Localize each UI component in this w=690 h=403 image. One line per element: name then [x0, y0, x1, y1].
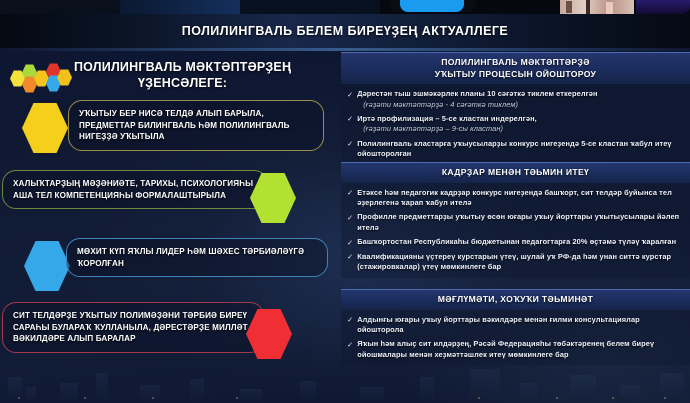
bullet-main: Иртә профилизация – 5-се кластан индерел…	[357, 114, 537, 123]
bullet-item: ✓ Етәксе һәм педагогик кадрҙар конкурс н…	[347, 188, 682, 209]
bullet-item: ✓ Иртә профилизация – 5-се кластан индер…	[347, 114, 682, 135]
bullet-text: Башҡортостан Республикаһы бюджетынан пед…	[357, 237, 676, 248]
feature-card-text: МӨХИТ КҮП ЯҠЛЫ ЛИДЕР ҺӘМ ШӘХЕС ТӘРБИӘЛӘҮ…	[66, 238, 328, 277]
hexagon-icon-yellow	[22, 102, 68, 154]
video-call-strip	[0, 0, 690, 14]
bullet-sub: (ғәҙәти мәктәптәрҙә - 4 сәғәткә тиклем)	[357, 100, 597, 110]
check-icon: ✓	[347, 89, 353, 110]
page-title: ПОЛИЛИНГВАЛЬ БЕЛЕМ БИРЕҮҘЕҢ АКТУАЛЛЕГЕ	[182, 24, 508, 38]
check-icon: ✓	[347, 339, 353, 360]
feature-card[interactable]: СИТ ТЕЛДӘРҘЕ УҠЫТЫУ ПОЛИМӘҘӘНИ ТӘРБИӘ БИ…	[2, 302, 320, 353]
title-underline	[0, 48, 690, 51]
feature-card-text: ХАЛЫҠТАРҘЫҢ МӘҘӘНИӘТЕ, ТАРИХЫ, ПСИХОЛОГИ…	[2, 170, 268, 209]
check-icon: ✓	[347, 139, 353, 160]
feature-card[interactable]: УҠЫТЫУ БЕР НИСӘ ТЕЛДӘ АЛЫП БАРЫЛА, ПРЕДМ…	[22, 100, 330, 151]
bullet-item: ✓ Башҡортостан Республикаһы бюджетынан п…	[347, 237, 682, 248]
hexagon-cluster-logo	[10, 63, 68, 93]
slide-stage: ПОЛИЛИНГВАЛЬ БЕЛЕМ БИРЕҮҘЕҢ АКТУАЛЛЕГЕ П…	[0, 0, 690, 403]
info-panel-header: КАДРҘАР МЕНӘН ТӘЬМИН ИТЕҮ	[341, 162, 690, 183]
right-column: ПОЛИЛИНГВАЛЬ МӘКТӘПТӘРҘӘ УҠЫТЫУ ПРОЦЕСЫН…	[341, 52, 690, 403]
bullet-item: ✓ Дәрестән тыш эшмәкәрлек планы 10 сәғәт…	[347, 89, 682, 110]
feature-card[interactable]: ХАЛЫҠТАРҘЫҢ МӘҘӘНИӘТЕ, ТАРИХЫ, ПСИХОЛОГИ…	[2, 170, 316, 209]
call-control-button[interactable]	[400, 0, 464, 12]
feature-card-text: УҠЫТЫУ БЕР НИСӘ ТЕЛДӘ АЛЫП БАРЫЛА, ПРЕДМ…	[68, 100, 324, 151]
check-icon: ✓	[347, 252, 353, 273]
bullet-text: Квалификацияны үҫтереү курстарын үтеү, ш…	[357, 252, 682, 273]
bullet-text: Иртә профилизация – 5-се кластан индерел…	[357, 114, 537, 135]
left-column: ПОЛИЛИНГВАЛЬ МӘКТӘПТӘРҘЕҢ ҮҘЕНСӘЛЕГЕ: УҠ…	[0, 52, 336, 402]
left-heading: ПОЛИЛИНГВАЛЬ МӘКТӘПТӘРҘЕҢ ҮҘЕНСӘЛЕГЕ:	[0, 52, 336, 93]
info-panel: КАДРҘАР МЕНӘН ТӘЬМИН ИТЕҮ ✓ Етәксе һәм п…	[341, 162, 690, 278]
hexagon-icon-blue	[24, 240, 70, 292]
info-panel-title-line1: ПОЛИЛИНГВАЛЬ МӘКТӘПТӘРҘӘ	[441, 57, 590, 67]
info-panel: МӘҒЛҮМӘТИ, ХОҠУҠИ ТӘЬМИНӘТ ✓ Алдынғы юға…	[341, 289, 690, 365]
info-panel-header: МӘҒЛҮМӘТИ, ХОҠУҠИ ТӘЬМИНӘТ	[341, 289, 690, 310]
feature-card[interactable]: МӨХИТ КҮП ЯҠЛЫ ЛИДЕР ҺӘМ ШӘХЕС ТӘРБИӘЛӘҮ…	[24, 238, 334, 277]
info-panel-body: ✓ Дәрестән тыш эшмәкәрлек планы 10 сәғәт…	[341, 84, 690, 164]
info-panel: ПОЛИЛИНГВАЛЬ МӘКТӘПТӘРҘӘ УҠЫТЫУ ПРОЦЕСЫН…	[341, 52, 690, 164]
bullet-item: ✓ Алдынғы юғары уҡыу йорттары вәкилдәре …	[347, 315, 682, 336]
info-panel-header: ПОЛИЛИНГВАЛЬ МӘКТӘПТӘРҘӘ УҠЫТЫУ ПРОЦЕСЫН…	[341, 52, 690, 84]
bullet-item: ✓ Квалификацияны үҫтереү курстарын үтеү,…	[347, 252, 682, 273]
check-icon: ✓	[347, 114, 353, 135]
bullet-item: ✓ Профилле предметтарҙы уҡытыу өсөн юғар…	[347, 212, 682, 233]
bullet-text: Яҡын һәм алыҫ сит илдәрҙең, Рәсәй Федера…	[357, 339, 682, 360]
info-panel-body: ✓ Етәксе һәм педагогик кадрҙар конкурс н…	[341, 183, 690, 278]
info-panel-title-line2: УҠЫТЫУ ПРОЦЕСЫН ОЙОШТОРОУ	[435, 69, 597, 79]
left-heading-text: ПОЛИЛИНГВАЛЬ МӘКТӘПТӘРҘЕҢ ҮҘЕНСӘЛЕГЕ:	[74, 60, 291, 91]
bullet-text: Етәксе һәм педагогик кадрҙар конкурс ниг…	[357, 188, 682, 209]
info-panel-body: ✓ Алдынғы юғары уҡыу йорттары вәкилдәре …	[341, 310, 690, 365]
check-icon: ✓	[347, 315, 353, 336]
bullet-item: ✓ Полилингваль кластарға уҡыусыларҙы кон…	[347, 139, 682, 160]
feature-card-text: СИТ ТЕЛДӘРҘЕ УҠЫТЫУ ПОЛИМӘҘӘНИ ТӘРБИӘ БИ…	[2, 302, 264, 353]
left-heading-line2: ҮҘЕНСӘЛЕГЕ:	[74, 76, 291, 92]
bullet-item: ✓ Яҡын һәм алыҫ сит илдәрҙең, Рәсәй Феде…	[347, 339, 682, 360]
check-icon: ✓	[347, 212, 353, 233]
bullet-text: Алдынғы юғары уҡыу йорттары вәкилдәре ме…	[357, 315, 682, 336]
bullet-text: Профилле предметтарҙы уҡытыу өсөн юғары …	[357, 212, 682, 233]
check-icon: ✓	[347, 237, 353, 248]
bullet-main: Дәрестән тыш эшмәкәрлек планы 10 сәғәткә…	[357, 89, 597, 98]
bullet-text: Полилингваль кластарға уҡыусыларҙы конку…	[357, 139, 682, 160]
check-icon: ✓	[347, 188, 353, 209]
slide-title-bar: ПОЛИЛИНГВАЛЬ БЕЛЕМ БИРЕҮҘЕҢ АКТУАЛЛЕГЕ	[0, 14, 690, 48]
left-heading-line1: ПОЛИЛИНГВАЛЬ МӘКТӘПТӘРҘЕҢ	[74, 60, 291, 74]
bullet-text: Дәрестән тыш эшмәкәрлек планы 10 сәғәткә…	[357, 89, 597, 110]
participant-thumbnail[interactable]	[560, 0, 634, 14]
bullet-sub: (ғәҙәти мәктәптәрҙә – 9-сы кластан)	[357, 124, 537, 134]
